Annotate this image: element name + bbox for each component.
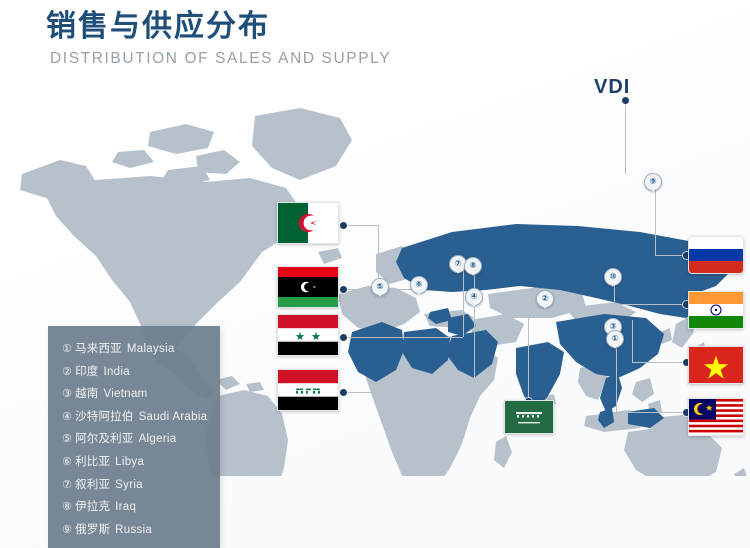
legend-num-saudi-arabia: ④ bbox=[62, 411, 72, 423]
legend-cn-russia: 俄罗斯 bbox=[75, 524, 110, 536]
algeria-flag[interactable] bbox=[277, 202, 339, 244]
legend-en-malaysia: Malaysia bbox=[127, 343, 175, 355]
vietnam-flag[interactable] bbox=[688, 346, 744, 384]
legend-cn-iraq: 伊拉克 bbox=[75, 501, 110, 513]
legend-en-saudi-arabia: Saudi Arabia bbox=[139, 411, 208, 423]
map-marker-iraq[interactable]: ⑧ bbox=[464, 257, 482, 275]
page-header: 销售与供应分布 DISTRIBUTION OF SALES AND SUPPLY bbox=[46, 8, 391, 68]
legend-item-malaysia[interactable]: ①马来西亚Malaysia bbox=[62, 338, 220, 361]
page-title-cn: 销售与供应分布 bbox=[46, 8, 391, 46]
legend-en-india: India bbox=[103, 366, 129, 378]
map-marker-malaysia[interactable]: ① bbox=[606, 330, 624, 348]
legend-item-iraq[interactable]: ⑧伊拉克Iraq bbox=[62, 496, 220, 519]
connector-vdi bbox=[625, 100, 626, 174]
legend-cn-libya: 利比亚 bbox=[75, 456, 110, 468]
map-marker-china[interactable]: ⑩ bbox=[604, 268, 622, 286]
legend-en-algeria: Algeria bbox=[139, 433, 177, 445]
connector-malaysia-h bbox=[616, 412, 688, 413]
page-subtitle-en: DISTRIBUTION OF SALES AND SUPPLY bbox=[50, 50, 391, 68]
libya-flag[interactable] bbox=[277, 266, 339, 308]
legend-cn-syria: 叙利亚 bbox=[75, 479, 110, 491]
legend-item-vietnam[interactable]: ③越南Vietnam bbox=[62, 383, 220, 406]
saudi-arabia-flag[interactable] bbox=[504, 400, 554, 434]
connector-algeria-v bbox=[378, 225, 379, 283]
legend-item-algeria[interactable]: ⑤阿尔及利亚Algeria bbox=[62, 428, 220, 451]
legend-panel: ①马来西亚Malaysia ②印度India ③越南Vietnam ④沙特阿拉伯… bbox=[48, 326, 220, 548]
legend-item-libya[interactable]: ⑥利比亚Libya bbox=[62, 451, 220, 474]
connector-iraq-h bbox=[344, 392, 474, 393]
connector-russia-v bbox=[655, 182, 656, 255]
legend-en-syria: Syria bbox=[115, 479, 143, 491]
legend-num-libya: ⑥ bbox=[62, 456, 72, 468]
legend-cn-vietnam: 越南 bbox=[75, 388, 98, 400]
legend-num-iraq: ⑧ bbox=[62, 501, 72, 513]
legend-cn-india: 印度 bbox=[75, 366, 98, 378]
legend-num-russia: ⑨ bbox=[62, 524, 72, 536]
legend-num-malaysia: ① bbox=[62, 343, 72, 355]
connector-node-libya bbox=[340, 286, 347, 293]
syria-flag[interactable] bbox=[277, 314, 339, 356]
map-marker-saudi-arabia[interactable]: ④ bbox=[465, 288, 483, 306]
legend-item-saudi-arabia[interactable]: ④沙特阿拉伯Saudi Arabia bbox=[62, 406, 220, 429]
iraq-flag[interactable] bbox=[277, 369, 339, 411]
legend-item-india[interactable]: ②印度India bbox=[62, 361, 220, 384]
connector-node-iraq bbox=[340, 389, 347, 396]
legend-num-syria: ⑦ bbox=[62, 479, 72, 491]
map-marker-algeria[interactable]: ⑤ bbox=[371, 278, 389, 296]
connector-malaysia-v bbox=[616, 348, 617, 412]
connector-node-syria bbox=[340, 334, 347, 341]
legend-item-russia[interactable]: ⑨俄罗斯Russia bbox=[62, 519, 220, 542]
connector-vietnam-h bbox=[632, 362, 688, 363]
map-marker-india[interactable]: ② bbox=[536, 290, 554, 308]
india-flag[interactable] bbox=[688, 291, 744, 329]
legend-en-iraq: Iraq bbox=[115, 501, 136, 513]
legend-num-vietnam: ③ bbox=[62, 388, 72, 400]
legend-en-libya: Libya bbox=[115, 456, 144, 468]
connector-iraq-v bbox=[474, 268, 475, 392]
legend-en-russia: Russia bbox=[115, 524, 152, 536]
russia-flag[interactable] bbox=[688, 236, 744, 274]
connector-vietnam-v bbox=[632, 320, 633, 362]
connector-algeria-h bbox=[344, 225, 378, 226]
legend-cn-malaysia: 马来西亚 bbox=[75, 343, 122, 355]
legend-en-vietnam: Vietnam bbox=[103, 388, 147, 400]
connector-syria-h bbox=[344, 337, 463, 338]
connector-india-h bbox=[614, 304, 688, 305]
connector-saudi-v bbox=[528, 302, 529, 400]
map-marker-libya[interactable]: ⑥ bbox=[410, 276, 428, 294]
legend-item-syria[interactable]: ⑦叙利亚Syria bbox=[62, 474, 220, 497]
malaysia-flag[interactable] bbox=[688, 398, 744, 436]
map-marker-russia[interactable]: ⑨ bbox=[644, 173, 662, 191]
connector-syria-v bbox=[463, 265, 464, 337]
slide-canvas: 销售与供应分布 DISTRIBUTION OF SALES AND SUPPLY bbox=[0, 0, 750, 548]
legend-cn-algeria: 阿尔及利亚 bbox=[75, 433, 134, 445]
legend-cn-saudi-arabia: 沙特阿拉伯 bbox=[75, 411, 134, 423]
legend-num-algeria: ⑤ bbox=[62, 433, 72, 445]
brand-label: VDI bbox=[594, 76, 630, 99]
legend-num-india: ② bbox=[62, 366, 72, 378]
connector-node-algeria bbox=[340, 222, 347, 229]
